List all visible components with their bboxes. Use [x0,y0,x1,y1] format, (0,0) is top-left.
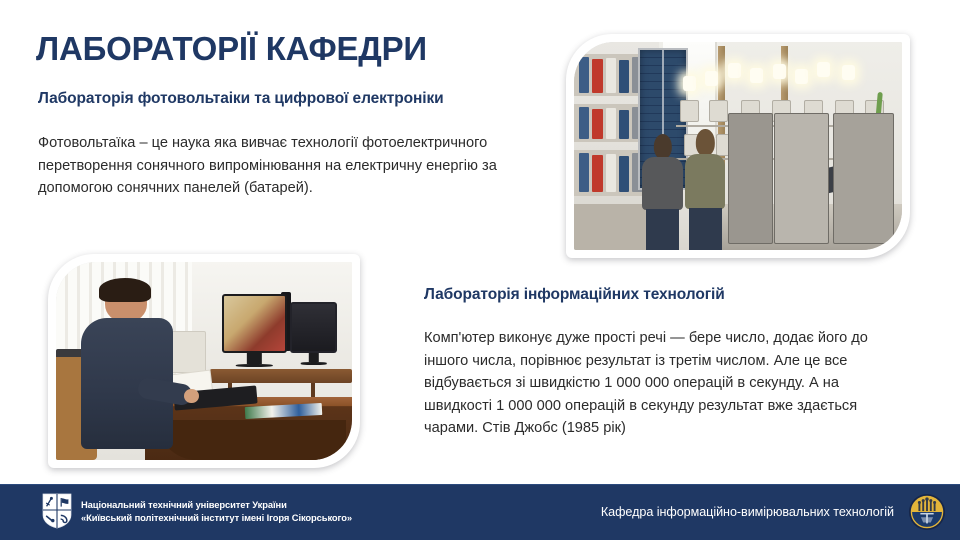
person-hair [99,278,151,302]
desk-front-panel [157,420,346,460]
footer-bar: Національний технічний університет Украї… [0,484,960,540]
it-lab-scene [56,262,352,460]
footer-university-name: Національний технічний університет Украї… [81,498,352,524]
monitor-screen-image [224,296,285,351]
person-head [696,129,714,156]
information-technologies-lab-photo-image [56,262,352,460]
photovoltaics-lab-photo [566,34,910,258]
kpi-shield-icon [42,493,72,529]
monitor-riser-shelf [210,369,352,383]
measurement-instrument [833,113,894,244]
lamp-row [679,61,882,94]
slide: ЛАБОРАТОРІЇ КАФЕДРИ Лабораторія фотоволь… [0,0,960,540]
section-heading-photovoltaics: Лабораторія фотовольтаіки та цифрової ел… [38,89,444,109]
page-title: ЛАБОРАТОРІЇ КАФЕДРИ [36,30,556,68]
person-legs [689,208,722,250]
section-body-photovoltaics: Фотовольтаїка – це наука яка вивчає техн… [38,132,508,200]
footer-university-line-1: Національний технічний університет Украї… [81,498,352,511]
person-torso [81,318,174,449]
photovoltaics-lab-photo-image [574,42,902,250]
measurement-instrument [774,113,828,244]
department-emblem-icon [908,493,946,531]
measurement-instrument [728,113,773,244]
monitor-screen-image [292,304,335,351]
footer-department-block: Кафедра інформаційно-вимірювальних техно… [601,484,946,540]
seated-person [77,278,178,460]
student-person [682,129,728,250]
person-torso [642,157,682,211]
footer-department-name: Кафедра інформаційно-вимірювальних техно… [601,505,894,519]
monitor-base [300,362,327,365]
person-torso [685,154,725,210]
footer-university-line-2: «Київський політехнічний інститут імені … [81,511,352,524]
monitor-base [236,364,272,367]
secondary-monitor [290,302,337,353]
student-person [640,134,686,250]
monitor-stand [308,353,318,362]
information-technologies-lab-photo [48,254,360,468]
monitor-stand [247,353,261,364]
footer-university-block: Національний технічний університет Украї… [42,493,352,529]
primary-monitor [222,294,287,353]
person-legs [646,209,679,250]
section-body-information-technologies: Комп'ютер виконує дуже прості речі — бер… [424,327,876,440]
photovoltaics-lab-scene [574,42,902,250]
section-heading-information-technologies: Лабораторія інформаційних технологій [424,285,725,305]
person-head [653,134,671,160]
